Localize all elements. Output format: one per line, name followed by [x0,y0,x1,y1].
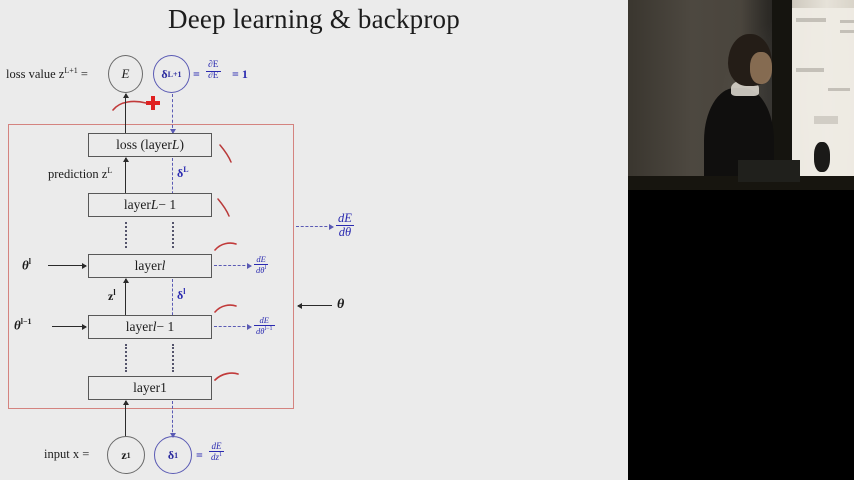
screen-text-line-4 [840,30,854,33]
node-delta-sup: L+1 [168,70,182,79]
box-layer-L-minus-1-tail: − 1 [158,197,176,213]
label-delta-L: δL [177,165,189,181]
loss-value-equals: = [81,67,88,81]
microphone [814,142,830,172]
screen-text-line-5 [828,88,850,91]
fraction-dE-dtheta-l-minus-1: dE dθl−1 [254,316,275,336]
label-theta-l-symbol: θ [22,257,29,272]
loss-value-text: loss value z [6,67,64,81]
fraction-dE-dtheta-num: dE [336,212,354,225]
arrow-backward-layer-1-to-input [172,401,173,437]
fraction-dE-dz1-num: dE [209,442,224,451]
label-theta-l-minus-1-symbol: θ [14,317,21,332]
fraction-dE-dtheta-l-den: dθl [254,264,268,275]
arrow-theta-l-in [48,265,86,266]
dots-backward-lower [172,344,174,372]
arrow-backward-from-delta-Lplus1 [172,94,173,133]
box-layer-l-minus-1-tail: − 1 [157,319,175,335]
node-E-label: E [122,66,130,82]
screen-diagram-block [814,116,838,124]
video-panel: UNIVERSITY OF OXFORD DEPARTMENT OF COMPU… [628,0,854,480]
arrow-theta-global-in [298,305,332,306]
label-theta-global-symbol: θ [337,297,344,312]
node-delta-1-sup: 1 [174,451,178,460]
fraction-dE-dE-denominator: ∂E [206,71,221,82]
arrow-backward-l-to-l-minus-1 [172,279,173,320]
laptop [738,160,800,182]
arrow-forward-l-minus-1-to-l [125,279,126,320]
dots-forward-lower [125,344,127,372]
label-input-x: input x = [44,447,89,462]
lecture-video-feed[interactable] [628,0,854,190]
screen-text-line-2 [796,68,824,72]
node-delta-1: δ1 [154,436,192,474]
lecturer-face [750,52,772,84]
box-loss-layer-L-label: loss (layer [116,137,172,153]
label-theta-l-sup: l [29,257,31,266]
presentation-viewer: Deep learning & backprop loss value zL+1… [0,0,854,480]
node-z-1-sup: 1 [127,451,131,460]
red-pen-stroke-loss [218,144,234,169]
box-layer-L-minus-1-label: layer [124,197,151,213]
dots-forward-upper [125,222,127,248]
arrow-grad-theta-l-minus-1-out [214,326,250,327]
slide-panel: Deep learning & backprop loss value zL+1… [0,0,628,480]
box-layer-1-label: layer [133,380,160,396]
label-prediction-text: prediction z [48,167,107,181]
red-pen-stroke-L-minus-1 [216,198,232,223]
label-prediction: prediction zL [48,166,112,182]
fraction-dE-dz1: dE dz1 [209,442,224,463]
fraction-dE-dtheta-l-minus-1-den: dθl−1 [254,325,275,336]
fraction-dE-dtheta: dE dθ [336,212,354,239]
box-loss-layer-L: loss (layer L) [88,133,212,157]
fraction-dE-dtheta-l-num: dE [254,255,268,264]
label-z-l: zl [108,288,116,304]
fraction-dE-dE: ∂E ∂E [206,61,221,82]
screen-text-line-3 [840,20,854,23]
box-loss-layer-L-tail: ) [179,137,184,153]
dots-backward-upper [172,222,174,248]
fraction-dE-dtheta-den: dθ [336,225,354,239]
node-delta-L-plus-1: δL+1 [153,55,190,93]
red-pen-stroke-layer-l-minus-1 [214,302,238,320]
box-layer-1-tail: 1 [160,380,167,396]
delta-result-label: = 1 [232,67,248,82]
arrow-grad-theta-l-out [214,265,250,266]
loss-value-sup: L+1 [64,66,77,75]
box-layer-1: layer 1 [88,376,212,400]
fraction-dE-dz1-den: dz1 [209,451,224,462]
box-layer-L-minus-1: layer L − 1 [88,193,212,217]
node-z-1: z1 [107,436,145,474]
box-layer-l: layer l [88,254,212,278]
box-layer-l-minus-1: layer l − 1 [88,315,212,339]
red-pen-stroke-layer-l [214,240,238,258]
box-layer-l-italic: l [162,258,166,274]
arrow-forward-to-E [125,94,126,133]
node-E: E [108,55,143,93]
box-layer-l-minus-1-label: layer [126,319,153,335]
red-plus-cursor-icon [146,96,160,110]
arrow-grad-theta-global-out [296,226,332,227]
box-layer-l-label: layer [135,258,162,274]
delta-equals-sign: = [193,67,200,82]
label-delta-l: δl [177,287,185,303]
label-theta-global: θ [337,297,344,313]
input-equals-sign: = [196,448,203,463]
box-loss-layer-L-italic: L [172,137,180,153]
label-prediction-sup: L [107,166,112,175]
red-pen-stroke-layer-1 [214,370,240,388]
label-theta-l-minus-1: θl−1 [14,317,32,333]
label-delta-l-sup: l [183,287,185,296]
fraction-dE-dE-numerator: ∂E [206,61,221,71]
fraction-dE-dtheta-l-minus-1-num: dE [254,316,275,325]
arrow-theta-l-minus-1-in [52,326,86,327]
label-delta-L-sup: L [183,165,188,174]
slide-title: Deep learning & backprop [0,4,628,35]
loss-value-label: loss value zL+1 = [6,66,88,82]
label-z-l-sup: l [113,288,115,297]
label-theta-l-minus-1-sup: l−1 [21,317,32,326]
box-layer-L-minus-1-italic: L [151,197,159,213]
label-theta-l: θl [22,257,31,273]
screen-text-line-1 [796,18,826,22]
red-pen-stroke-top [112,98,148,117]
arrow-forward-input-to-layer-1 [125,401,126,437]
fraction-dE-dtheta-l: dE dθl [254,255,268,275]
